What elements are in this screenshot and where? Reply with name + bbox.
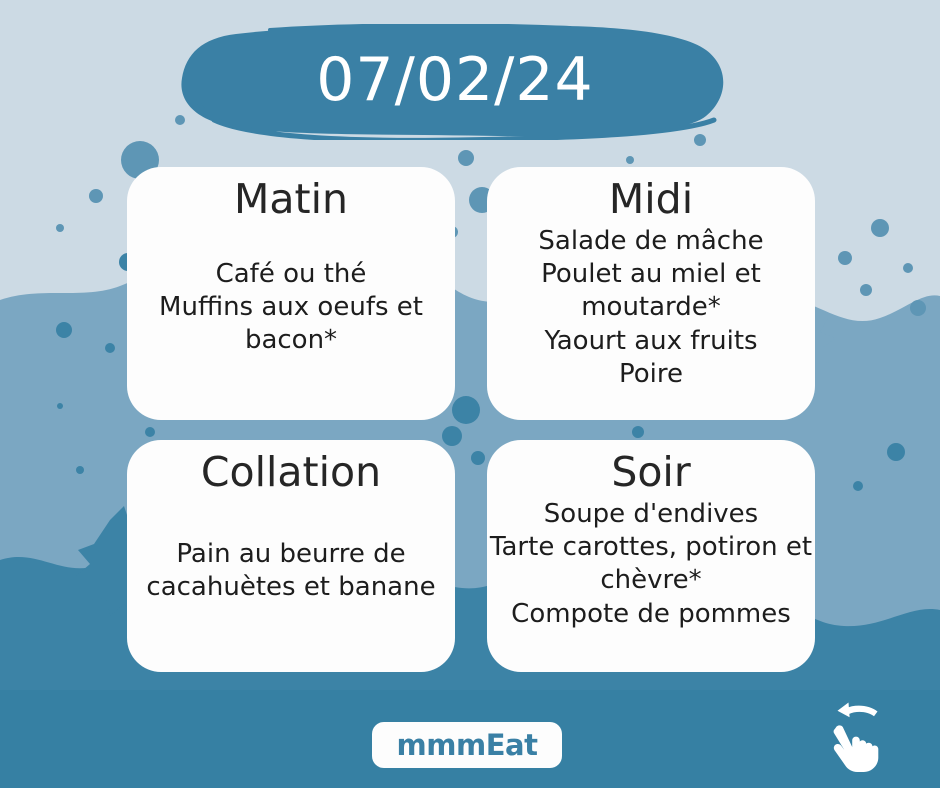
meal-item: Poire bbox=[619, 358, 683, 391]
meal-plan-poster: 07/02/24 Matin Café ou thé Muffins aux o… bbox=[0, 0, 940, 788]
date-banner: 07/02/24 bbox=[178, 24, 732, 140]
meal-item: Yaourt aux fruits bbox=[544, 325, 757, 358]
meal-items-midi: Salade de mâche Poulet au miel et moutar… bbox=[501, 225, 801, 408]
meal-item: Tarte carottes, potiron et bbox=[490, 531, 812, 564]
swipe-left-hand-glyph bbox=[818, 697, 892, 775]
meal-card-matin[interactable]: Matin Café ou thé Muffins aux oeufs et b… bbox=[127, 167, 455, 420]
brand-logo-text: mmmEat bbox=[397, 728, 538, 762]
meal-item: Muffins aux oeufs et bbox=[159, 291, 423, 324]
meal-item: cacahuètes et banane bbox=[146, 571, 435, 604]
meal-item: Soupe d'endives bbox=[544, 498, 758, 531]
meal-title-soir: Soir bbox=[611, 450, 690, 496]
meal-item: bacon* bbox=[245, 324, 337, 357]
meal-card-midi[interactable]: Midi Salade de mâche Poulet au miel et m… bbox=[487, 167, 815, 420]
meal-items-matin: Café ou thé Muffins aux oeufs et bacon* bbox=[141, 223, 441, 408]
date-label: 07/02/24 bbox=[178, 24, 732, 140]
meal-item: Poulet au miel et bbox=[541, 258, 761, 291]
meal-card-collation[interactable]: Collation Pain au beurre de cacahuètes e… bbox=[127, 440, 455, 672]
meal-items-soir: Soupe d'endives Tarte carottes, potiron … bbox=[501, 498, 801, 660]
meal-cards-grid: Matin Café ou thé Muffins aux oeufs et b… bbox=[127, 167, 815, 672]
meal-title-matin: Matin bbox=[234, 177, 348, 223]
meal-item: moutarde* bbox=[581, 291, 721, 324]
meal-card-soir[interactable]: Soir Soupe d'endives Tarte carottes, pot… bbox=[487, 440, 815, 672]
meal-items-collation: Pain au beurre de cacahuètes et banane bbox=[141, 496, 441, 660]
meal-title-collation: Collation bbox=[201, 450, 381, 496]
meal-item: Pain au beurre de bbox=[176, 538, 405, 571]
meal-item: Compote de pommes bbox=[511, 598, 791, 631]
meal-title-midi: Midi bbox=[609, 177, 693, 223]
swipe-left-hand-icon[interactable] bbox=[818, 697, 892, 775]
meal-item: chèvre* bbox=[600, 564, 701, 597]
meal-item: Salade de mâche bbox=[538, 225, 763, 258]
brand-logo-pill[interactable]: mmmEat bbox=[372, 722, 562, 768]
meal-item: Café ou thé bbox=[216, 258, 367, 291]
